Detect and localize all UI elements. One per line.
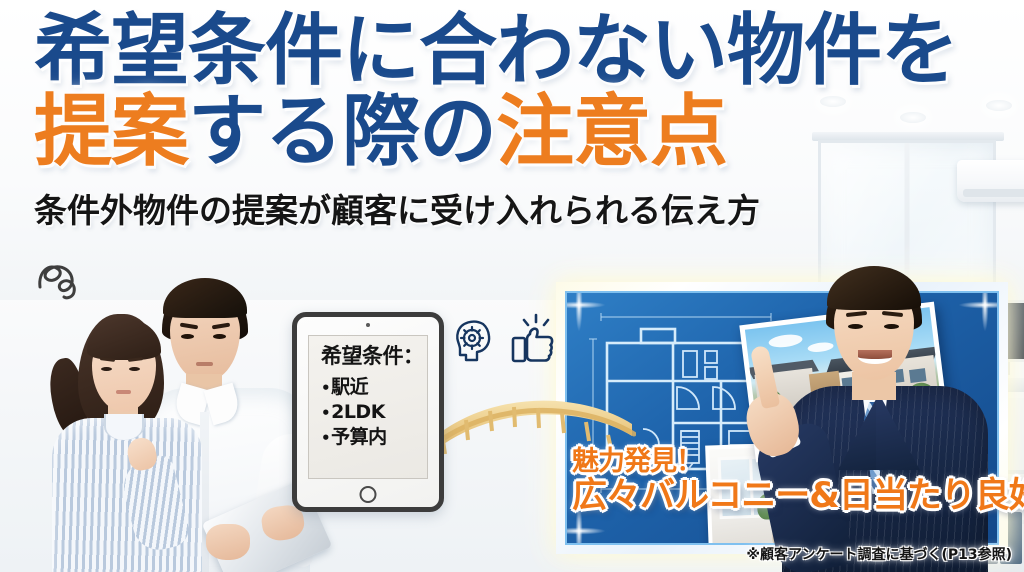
feature-callout: 魅力発見！ 広々バルコニー&日当たり良好 xyxy=(572,448,1024,514)
woman-eye xyxy=(129,367,140,371)
confusion-scribble-icon xyxy=(30,257,98,307)
subtitle: 条件外物件の提案が顧客に受け入れられる伝え方 xyxy=(34,184,1024,232)
conditions-heading: 希望条件： xyxy=(321,345,427,368)
man-eye xyxy=(181,334,194,339)
title-line-2: 提案する際の注意点 xyxy=(34,95,1024,170)
title-block: 希望条件に合わない物件を 提案する際の注意点 条件外物件の提案が顧客に受け入れら… xyxy=(0,14,1024,232)
title-line-2-segment-blue: する際の xyxy=(188,87,496,177)
agent-hair-front xyxy=(827,266,921,310)
tablet-home-button[interactable] xyxy=(360,486,377,503)
agent-smile xyxy=(858,350,892,364)
man-hand xyxy=(206,524,250,560)
agent-eye xyxy=(884,324,899,329)
callout-line-2: 広々バルコニー&日当たり良好 xyxy=(572,479,1024,515)
couple-photo-group xyxy=(0,262,310,572)
footnote: ※顧客アンケート調査に基づく(P13参照) xyxy=(746,544,1012,564)
callout-line-1: 魅力発見！ xyxy=(572,448,1024,476)
tablet-camera xyxy=(366,323,370,327)
title-line-2-segment-orange-a: 提案 xyxy=(34,87,188,177)
title-line-1: 希望条件に合わない物件を xyxy=(34,14,1024,89)
man-eye xyxy=(213,334,226,339)
conditions-list: 駅近 2LDK 予算内 xyxy=(321,375,427,450)
tablet-screen: 希望条件： 駅近 2LDK 予算内 xyxy=(308,335,428,479)
man-hair-front xyxy=(163,278,247,318)
woman-mouth xyxy=(116,390,131,394)
agent-photo xyxy=(742,268,1024,572)
man-mouth xyxy=(196,362,213,366)
list-item: 予算内 xyxy=(321,425,427,450)
slide-canvas: 希望条件に合わない物件を 提案する際の注意点 条件外物件の提案が顧客に受け入れら… xyxy=(0,0,1024,572)
head-gear-icon xyxy=(452,318,498,362)
conditions-tablet[interactable]: 希望条件： 駅近 2LDK 予算内 xyxy=(292,312,444,512)
thumbs-up-icon xyxy=(508,312,558,364)
woman-collar xyxy=(104,414,144,440)
title-line-2-segment-orange-b: 注意点 xyxy=(496,87,727,177)
agent-eye xyxy=(848,324,863,329)
list-item: 駅近 xyxy=(321,375,427,400)
list-item: 2LDK xyxy=(321,400,427,425)
woman-eye xyxy=(101,367,112,371)
